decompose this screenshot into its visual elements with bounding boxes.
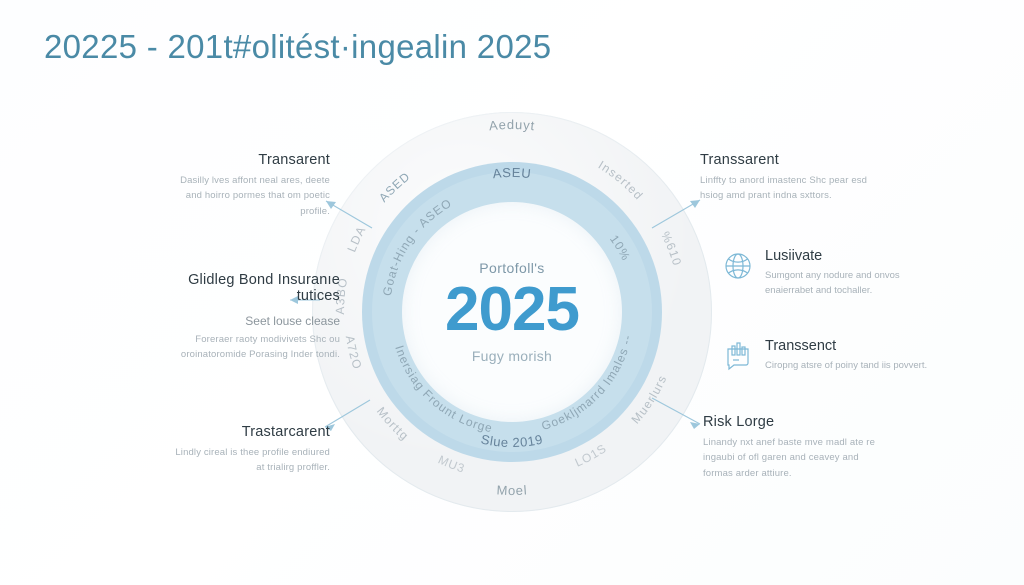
center-subtitle: Fugy morish [472,348,552,364]
donut-center-label: Portofoll's 2025 Fugy morish [402,202,622,422]
callout-bottom-left[interactable]: Trastarcarent Lindly cireal is thee prof… [170,424,330,476]
chart-card-icon [722,340,754,372]
feature-body: Ciropng atsre of poiny tand iis povvert. [765,358,927,373]
center-value: 2025 [445,278,579,341]
feature-title: Lusiivate [765,248,937,264]
feature-title: Transsenct [765,338,927,354]
callout-title: Transarent [180,152,330,168]
callout-body: Lindly cireal is thee profile endiured a… [170,445,330,476]
callout-title: Transsarent [700,152,870,168]
center-kicker: Portofoll's [479,260,544,276]
callout-title: Glidleg Bond Insuranıe tutices [175,272,340,304]
callout-top-right[interactable]: Transsarent Linffty tɔ anord imastenc Sh… [700,152,870,204]
callout-body: Foreraer raoty modivivets Shc ou oroinat… [175,332,340,363]
feature-text: Transsenct Ciropng atsre of poiny tand i… [765,338,927,373]
feature-body: Sumgont any nodure and onvos enaierrabet… [765,268,937,298]
feature-item-globe[interactable]: Lusiivate Sumgont any nodure and onvos e… [722,248,937,298]
callout-body: Linandy nxt anef baste mve madl ate re i… [703,435,883,481]
callout-subtitle: Seet louse clease [175,314,340,328]
feature-text: Lusiivate Sumgont any nodure and onvos e… [765,248,937,298]
callout-title: Risk Lorge [703,414,883,430]
feature-item-chart[interactable]: Transsenct Ciropng atsre of poiny tand i… [722,338,937,373]
callout-bottom-right[interactable]: Risk Lorge Linandy nxt anef baste mve ma… [703,414,883,481]
callout-body: Dasilly lves affont neal ares, deete and… [180,173,330,219]
callout-title: Trastarcarent [170,424,330,440]
page-title: 20225 - 201t#olitést·ingealin 2025 [44,28,551,66]
infographic-stage: 20225 - 201t#olitést·ingealin 2025 Aeduy… [0,0,1024,585]
callout-body: Linffty tɔ anord imastenc Shc pear esd h… [700,173,870,204]
callout-top-left[interactable]: Transarent Dasilly lves affont neal ares… [180,152,330,219]
callout-mid-left[interactable]: Glidleg Bond Insuranıe tutices Seet lous… [175,272,340,363]
globe-icon [722,250,754,282]
